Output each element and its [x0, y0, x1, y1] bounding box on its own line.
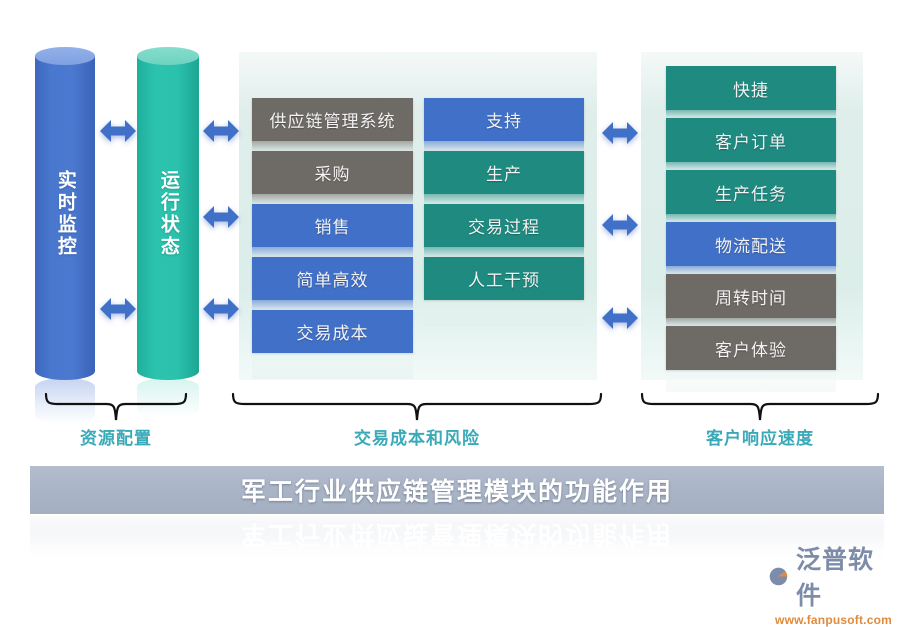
middle-right-box-3[interactable]: 人工干预 — [424, 257, 584, 300]
middle-right-box-0[interactable]: 支持 — [424, 98, 584, 141]
title-reflection: 军工行业供应链管理模块的功能作用 — [30, 516, 884, 560]
reflection-mask — [666, 214, 836, 222]
brace-shape-icon — [640, 392, 880, 424]
reflection-mask — [252, 247, 413, 257]
fanpu-swoosh-icon — [766, 563, 791, 590]
middle-left-box-4[interactable]: 交易成本 — [252, 310, 413, 353]
right-panel-box-4-reflection: 周转时间 — [666, 318, 836, 326]
middle-left-box-1-reflection: 采购 — [252, 194, 413, 204]
right-panel-box-5-reflection: 客户体验 — [666, 370, 836, 392]
middle-left-box-3[interactable]: 简单高效 — [252, 257, 413, 300]
cylinder-running-status-label: 运行状态 — [137, 48, 199, 380]
page-title: 军工行业供应链管理模块的功能作用 — [241, 472, 673, 508]
right-panel-box-0-reflection: 快捷 — [666, 110, 836, 118]
reflection-mask — [666, 162, 836, 170]
brace-label-cost-and-risk: 交易成本和风险 — [351, 424, 483, 449]
middle-left-box-1[interactable]: 采购 — [252, 151, 413, 194]
reflection-mask — [424, 247, 584, 257]
reflection-mask — [424, 194, 584, 204]
middle-right-box-1[interactable]: 生产 — [424, 151, 584, 194]
cylinder-running-status: 运行状态 — [137, 48, 199, 380]
logo-url: www.fanpusoft.com — [766, 613, 892, 627]
middle-right-box-1-reflection: 生产 — [424, 194, 584, 204]
arrow-status-to-middle-top — [203, 117, 239, 145]
diagram-canvas: 泛普软件 FANPU SOFTWARE 实时监控 运行状态 — [0, 0, 900, 600]
reflection-mask — [252, 141, 413, 151]
middle-right-box-2[interactable]: 交易过程 — [424, 204, 584, 247]
cylinder-realtime-monitor-label: 实时监控 — [35, 48, 95, 380]
right-panel-box-3-reflection: 物流配送 — [666, 266, 836, 274]
arrow-monitor-to-status-bottom — [100, 295, 136, 323]
arrow-middle-to-right-bottom — [602, 304, 638, 332]
reflection-mask — [252, 194, 413, 204]
right-panel-box-3[interactable]: 物流配送 — [666, 222, 836, 266]
middle-left-box-4-reflection: 交易成本 — [252, 353, 413, 379]
arrow-status-to-middle-mid — [203, 203, 239, 231]
right-panel-box-2[interactable]: 生产任务 — [666, 170, 836, 214]
right-panel-box-4[interactable]: 周转时间 — [666, 274, 836, 318]
middle-right-box-3-reflection: 人工干预 — [424, 300, 584, 326]
middle-right-box-0-reflection: 支持 — [424, 141, 584, 151]
arrow-middle-to-right-top — [602, 119, 638, 147]
arrow-middle-to-right-mid — [602, 211, 638, 239]
reflection-mask — [424, 141, 584, 151]
brace-shape-icon — [44, 392, 188, 424]
brace-resource-allocation — [44, 392, 188, 424]
brace-shape-icon — [231, 392, 603, 424]
reflection-mask — [424, 300, 584, 326]
brace-label-resource-allocation: 资源配置 — [36, 424, 196, 449]
reflection-mask — [252, 353, 413, 379]
reflection-mask — [666, 370, 836, 392]
logo-row: 泛普软件 — [766, 540, 892, 612]
right-panel-box-0[interactable]: 快捷 — [666, 66, 836, 110]
brace-cost-and-risk — [231, 392, 603, 424]
middle-left-box-0[interactable]: 供应链管理系统 — [252, 98, 413, 141]
right-panel-box-1-reflection: 客户订单 — [666, 162, 836, 170]
reflection-mask — [252, 300, 413, 310]
cylinder-realtime-monitor: 实时监控 — [35, 48, 95, 380]
middle-right-box-2-reflection: 交易过程 — [424, 247, 584, 257]
brace-customer-response — [640, 392, 880, 424]
right-panel-box-5[interactable]: 客户体验 — [666, 326, 836, 370]
arrow-status-to-middle-bottom — [203, 295, 239, 323]
middle-left-box-3-reflection: 简单高效 — [252, 300, 413, 310]
arrow-monitor-to-status-top — [100, 117, 136, 145]
brace-label-customer-response: 客户响应速度 — [684, 424, 836, 449]
reflection-mask — [666, 110, 836, 118]
middle-left-box-2-reflection: 销售 — [252, 247, 413, 257]
title-reflection-fade — [30, 516, 884, 560]
reflection-mask — [666, 318, 836, 326]
logo-text: 泛普软件 — [796, 540, 892, 612]
title-banner: 军工行业供应链管理模块的功能作用 — [30, 466, 884, 514]
right-panel-box-2-reflection: 生产任务 — [666, 214, 836, 222]
right-panel-box-1[interactable]: 客户订单 — [666, 118, 836, 162]
reflection-mask — [666, 266, 836, 274]
middle-left-box-2[interactable]: 销售 — [252, 204, 413, 247]
middle-left-box-0-reflection: 供应链管理系统 — [252, 141, 413, 151]
company-logo[interactable]: 泛普软件 www.fanpusoft.com — [766, 540, 892, 588]
